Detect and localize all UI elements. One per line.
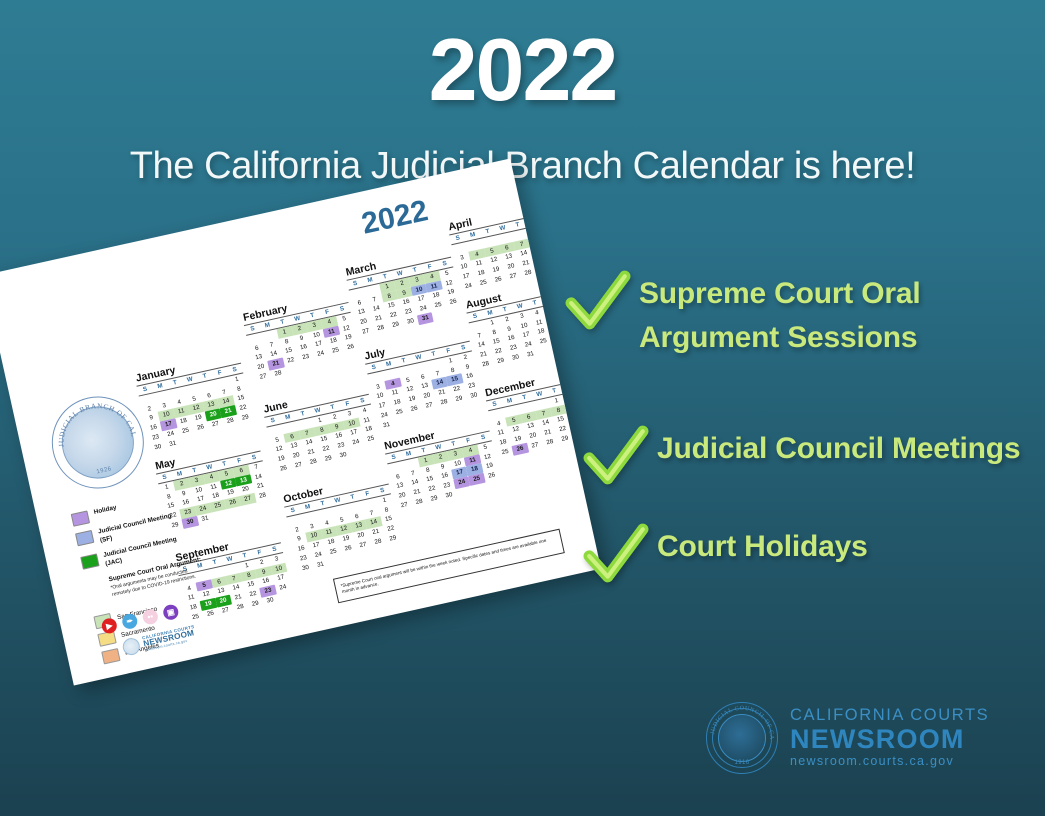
legend-swatch (80, 554, 99, 570)
youtube-icon[interactable]: ▶ (100, 617, 118, 635)
newsroom-seal-icon (121, 637, 141, 657)
day-cell: 30 (465, 389, 482, 402)
day-cell: 29 (384, 532, 401, 545)
dow-cell: F (541, 294, 558, 305)
day-cell: 29 (237, 411, 254, 424)
bullet-label: Supreme Court Oral Argument Sessions (639, 268, 920, 361)
calendar-month-april: AprilSMTWTFS1234567891011121314151617181… (446, 199, 566, 293)
day-cell: 10 (580, 397, 597, 410)
day-cell: 29 (535, 263, 552, 276)
day-cell: 28 (254, 490, 271, 503)
day-cell: 9 (565, 401, 582, 414)
day-cell: 31 (312, 558, 329, 571)
check-icon (583, 521, 649, 587)
calendar-month-july: JulySMTWTFS12345678910111213141516171819… (362, 328, 484, 432)
dow-cell: F (561, 382, 578, 393)
day-cell: 30 (549, 260, 566, 273)
check-icon (583, 423, 649, 489)
seal-year-big: 1916 (707, 760, 777, 766)
check-icon (565, 268, 631, 334)
legend-swatch (71, 510, 90, 526)
day-cell: 5 (543, 303, 560, 316)
day-cell: 31 (164, 438, 181, 451)
day-cell: 31 (522, 348, 539, 361)
newsroom-line1: CALIFORNIA COURTS (790, 706, 989, 725)
dow-cell: S (539, 213, 556, 224)
day-cell: 24 (275, 581, 292, 594)
calendar-month-november: NovemberSMTWTFS1234567891011121314151617… (382, 418, 502, 512)
bullet-item-3: Court Holidays (583, 521, 868, 587)
day-cell: 17 (582, 407, 599, 420)
day-cell: 9 (543, 231, 560, 244)
dow-cell: S (576, 379, 593, 390)
day-cell: 1 (526, 225, 543, 238)
bullet-item-2: Judicial Council Meetings (583, 423, 1020, 489)
calendar-poster-image: 2022 JUDICIAL BRANCH OF CALIFORNIA 1926 … (0, 159, 601, 686)
flickr-icon[interactable]: •• (141, 608, 159, 626)
bullet-label: Court Holidays (657, 521, 868, 569)
day-cell: 23 (547, 251, 564, 264)
day-cell: 30 (441, 489, 458, 502)
svg-text:JUDICIAL COUNCIL OF CALIFORNIA: JUDICIAL COUNCIL OF CALIFORNIA (707, 703, 774, 740)
legend-swatch (75, 530, 94, 546)
day-cell: 25 (362, 433, 379, 446)
day-cell: 16 (545, 241, 562, 254)
bullet-label: Judicial Council Meetings (657, 423, 1020, 471)
day-cell: 8 (528, 235, 545, 248)
day-cell: 26 (445, 296, 462, 309)
day-cell: 26 (342, 341, 359, 354)
day-cell: 15 (530, 244, 547, 257)
calendar-month-march: MarchSMTWTFS1234567891011121314151617181… (344, 244, 464, 338)
day-cell: 31 (378, 419, 395, 432)
day-cell: 19 (548, 322, 565, 335)
day-cell: 12 (546, 313, 563, 326)
day-cell: 31 (417, 312, 434, 325)
twitter-icon[interactable]: ✒ (121, 612, 139, 630)
day-cell: 2 (541, 222, 558, 235)
newsroom-line3: newsroom.courts.ca.gov (790, 753, 989, 770)
newsroom-logo[interactable]: JUDICIAL COUNCIL OF CALIFORNIA 1916 CALI… (706, 702, 989, 774)
day-cell: 30 (335, 449, 352, 462)
page-subtitle: The California Judicial Branch Calendar … (0, 145, 1045, 189)
day-cell: 28 (270, 367, 287, 380)
day-cell: 22 (532, 254, 549, 267)
calendar-month-october: OctoberSMTWTFS12345678910111213141516171… (281, 471, 403, 575)
instagram-icon[interactable]: ▣ (162, 603, 180, 621)
day-cell: 16 (567, 410, 584, 423)
judicial-council-seal-icon: JUDICIAL COUNCIL OF CALIFORNIA 1916 (706, 702, 778, 774)
dow-cell: F (524, 216, 541, 227)
bullet-item-1: Supreme Court Oral Argument Sessions (565, 268, 920, 361)
calendar-month-june: JuneSMTWTFS12345678910111213141516171819… (261, 381, 381, 475)
calendar-month-february: FebruarySMTWTFS1234567891011121314151617… (241, 289, 361, 383)
day-cell: 2 (563, 391, 580, 404)
calendar-month-january: JanuarySMTWTFS12345678910111213141516171… (134, 350, 256, 454)
day-cell: 26 (483, 470, 500, 483)
newsroom-line2: NEWSROOM (790, 725, 989, 753)
page-title-year: 2022 (0, 26, 1045, 114)
city-swatch (101, 648, 120, 664)
day-cell: 3 (578, 388, 595, 401)
